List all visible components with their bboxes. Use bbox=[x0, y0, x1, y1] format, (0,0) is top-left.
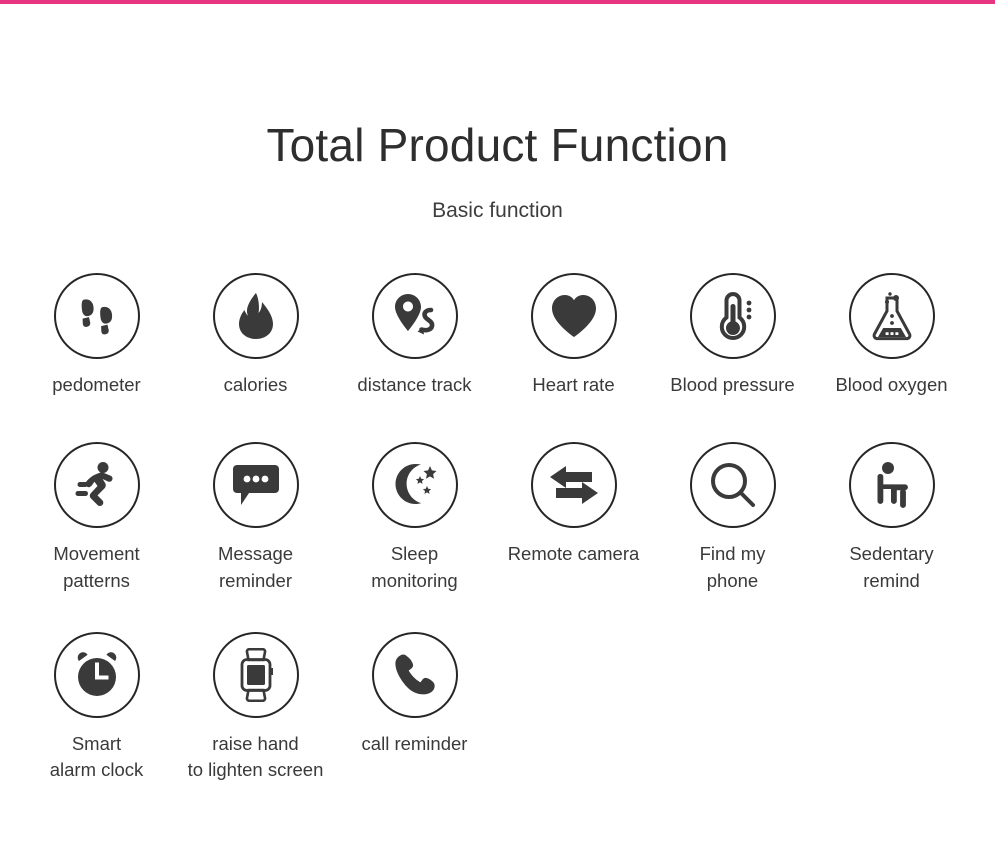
moon-stars-icon bbox=[372, 442, 458, 528]
feature-heart-rate[interactable]: Heart rate bbox=[494, 273, 653, 398]
feature-distance-track[interactable]: distance track bbox=[335, 273, 494, 398]
feature-call-reminder[interactable]: call reminder bbox=[335, 632, 494, 757]
feature-row: Smart alarm clock raise hand to lighten … bbox=[0, 632, 995, 784]
feature-pedometer[interactable]: pedometer bbox=[17, 273, 176, 398]
footprints-icon bbox=[54, 273, 140, 359]
feature-label: Remote camera bbox=[490, 541, 658, 567]
map-pin-route-icon bbox=[372, 273, 458, 359]
feature-raise-hand-to-lighten-screen[interactable]: raise hand to lighten screen bbox=[176, 632, 335, 784]
page-title: Total Product Function bbox=[0, 4, 995, 168]
feature-label: Sedentary remind bbox=[808, 541, 976, 594]
feature-row: pedometer calories dis bbox=[0, 273, 995, 398]
feature-label: calories bbox=[172, 372, 340, 398]
phone-handset-icon bbox=[372, 632, 458, 718]
feature-find-my-phone[interactable]: Find my phone bbox=[653, 442, 812, 594]
feature-smart-alarm-clock[interactable]: Smart alarm clock bbox=[17, 632, 176, 784]
feature-calories[interactable]: calories bbox=[176, 273, 335, 398]
heart-icon bbox=[531, 273, 617, 359]
feature-label: pedometer bbox=[13, 372, 181, 398]
running-person-icon bbox=[54, 442, 140, 528]
flask-icon bbox=[849, 273, 935, 359]
magnifier-icon bbox=[690, 442, 776, 528]
feature-label: Find my phone bbox=[649, 541, 817, 594]
feature-row: Movement patterns Message reminder bbox=[0, 442, 995, 594]
alarm-clock-icon bbox=[54, 632, 140, 718]
feature-grid: pedometer calories dis bbox=[0, 273, 995, 783]
feature-movement-patterns[interactable]: Movement patterns bbox=[17, 442, 176, 594]
feature-label: Sleep monitoring bbox=[331, 541, 499, 594]
feature-label: Blood oxygen bbox=[808, 372, 976, 398]
feature-blood-oxygen[interactable]: Blood oxygen bbox=[812, 273, 971, 398]
smartwatch-icon bbox=[213, 632, 299, 718]
feature-label: Heart rate bbox=[490, 372, 658, 398]
feature-sleep-monitoring[interactable]: Sleep monitoring bbox=[335, 442, 494, 594]
feature-label: call reminder bbox=[331, 731, 499, 757]
feature-message-reminder[interactable]: Message reminder bbox=[176, 442, 335, 594]
page-subtitle: Basic function bbox=[0, 168, 995, 221]
seated-person-icon bbox=[849, 442, 935, 528]
chat-bubble-icon bbox=[213, 442, 299, 528]
feature-label: Message reminder bbox=[172, 541, 340, 594]
product-feature-page: Total Product Function Basic function pe… bbox=[0, 4, 995, 852]
thermometer-icon bbox=[690, 273, 776, 359]
feature-sedentary-remind[interactable]: Sedentary remind bbox=[812, 442, 971, 594]
feature-label: distance track bbox=[331, 372, 499, 398]
feature-remote-camera[interactable]: Remote camera bbox=[494, 442, 653, 567]
two-way-arrows-icon bbox=[531, 442, 617, 528]
feature-label: raise hand to lighten screen bbox=[172, 731, 340, 784]
flame-icon bbox=[213, 273, 299, 359]
feature-label: Smart alarm clock bbox=[13, 731, 181, 784]
feature-label: Movement patterns bbox=[13, 541, 181, 594]
feature-blood-pressure[interactable]: Blood pressure bbox=[653, 273, 812, 398]
feature-label: Blood pressure bbox=[649, 372, 817, 398]
